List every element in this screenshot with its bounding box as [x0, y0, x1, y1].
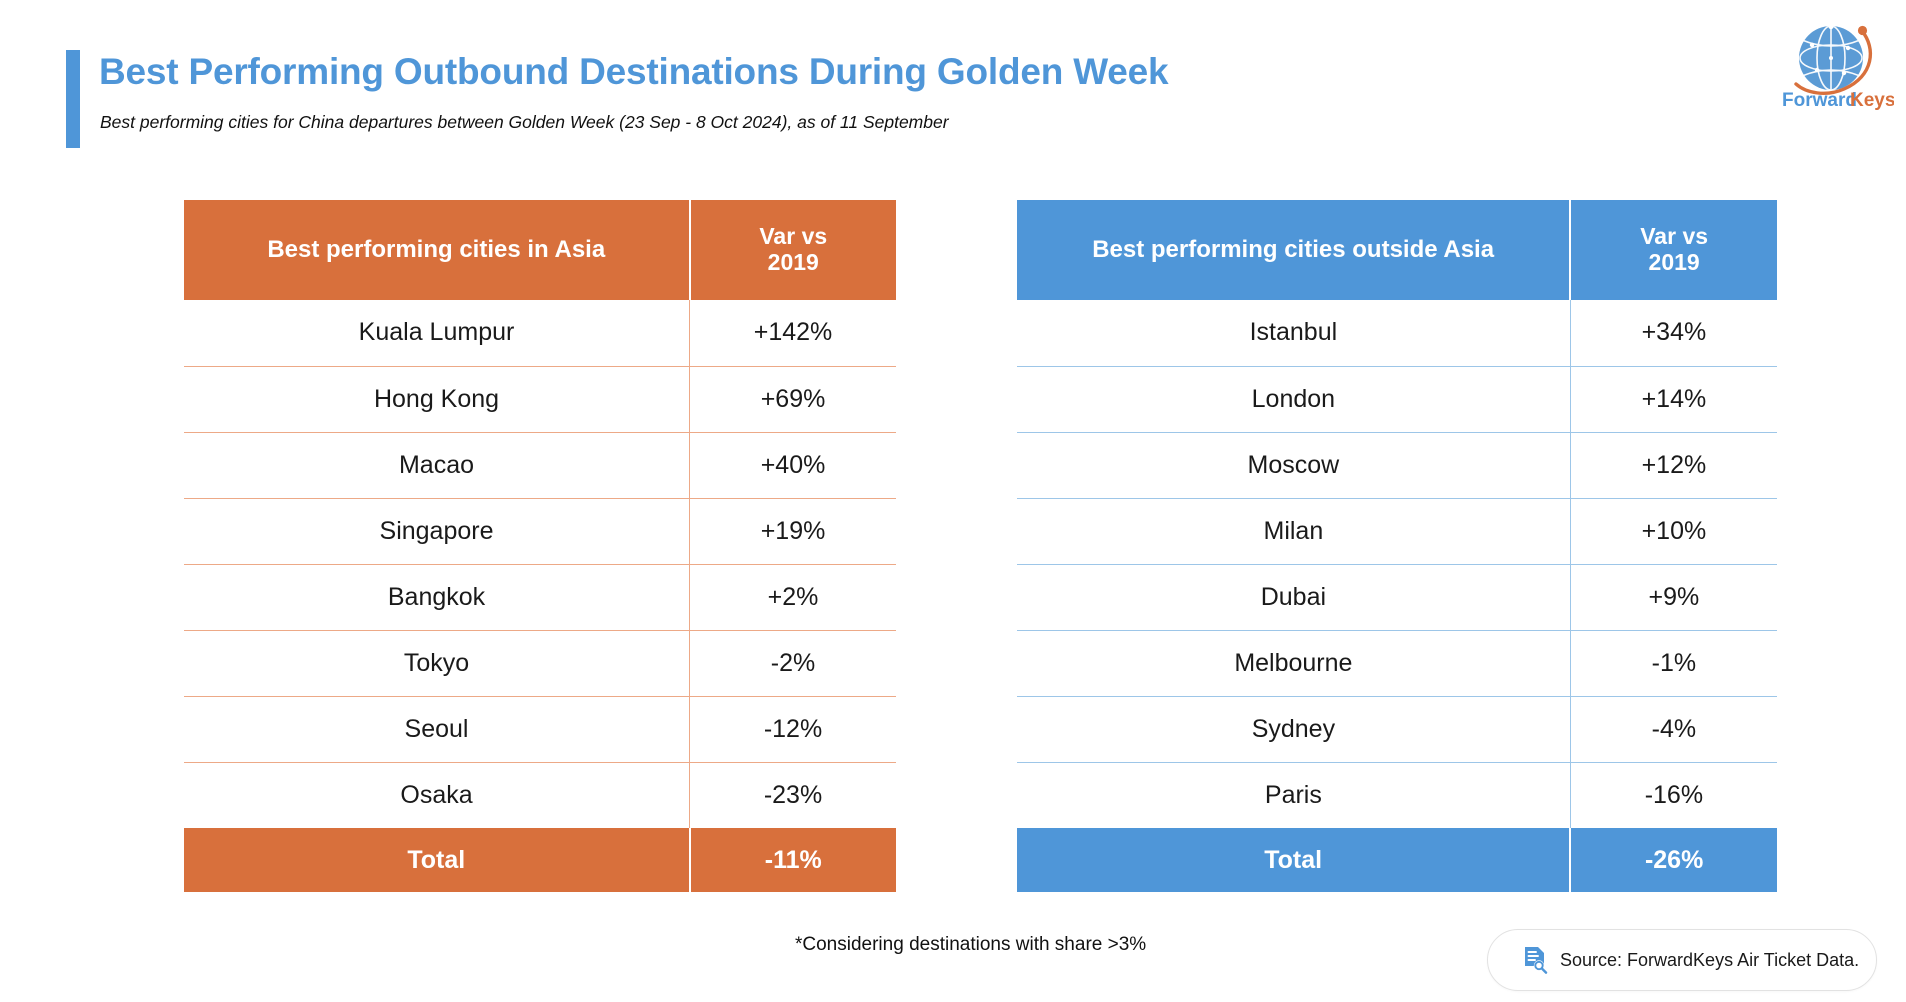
table-total-row: Total -11% [184, 828, 896, 892]
table-total-row: Total -26% [1017, 828, 1777, 892]
cell-city: Bangkok [184, 564, 690, 630]
globe-icon [1799, 24, 1863, 90]
cell-var: -2% [690, 630, 896, 696]
cell-city: Seoul [184, 696, 690, 762]
table: Best performing cities in Asia Var vs 20… [184, 200, 896, 892]
accent-bar [66, 50, 80, 148]
column-header-var-line2: 2019 [1581, 250, 1767, 276]
total-var: -11% [690, 828, 896, 892]
cell-var: +69% [690, 366, 896, 432]
table: Best performing cities outside Asia Var … [1017, 200, 1777, 892]
table-row: Dubai +9% [1017, 564, 1777, 630]
table-row: Istanbul +34% [1017, 300, 1777, 366]
table-header: Best performing cities outside Asia Var … [1017, 200, 1777, 300]
cell-var: -4% [1570, 696, 1777, 762]
cell-city: Osaka [184, 762, 690, 828]
table-row: Tokyo -2% [184, 630, 896, 696]
table-row: London +14% [1017, 366, 1777, 432]
cell-var: +2% [690, 564, 896, 630]
table-row: Hong Kong +69% [184, 366, 896, 432]
cell-var: -23% [690, 762, 896, 828]
total-var: -26% [1570, 828, 1777, 892]
column-header-city: Best performing cities in Asia [184, 200, 690, 300]
cell-var: -1% [1570, 630, 1777, 696]
table-header: Best performing cities in Asia Var vs 20… [184, 200, 896, 300]
table-best-cities-asia: Best performing cities in Asia Var vs 20… [184, 200, 896, 892]
logo-word-forward: Forward [1782, 90, 1857, 110]
cell-city: Istanbul [1017, 300, 1570, 366]
cell-city: Tokyo [184, 630, 690, 696]
total-label: Total [1017, 828, 1570, 892]
cell-city: Milan [1017, 498, 1570, 564]
slide-canvas: Best Performing Outbound Destinations Du… [0, 0, 1906, 1002]
table-row: Kuala Lumpur +142% [184, 300, 896, 366]
cell-var: +10% [1570, 498, 1777, 564]
column-header-var-line1: Var vs [701, 224, 886, 250]
column-header-var: Var vs 2019 [1570, 200, 1777, 300]
cell-var: +34% [1570, 300, 1777, 366]
cell-city: Moscow [1017, 432, 1570, 498]
cell-var: -16% [1570, 762, 1777, 828]
cell-city: Sydney [1017, 696, 1570, 762]
column-header-var-line1: Var vs [1581, 224, 1767, 250]
table-best-cities-outside-asia: Best performing cities outside Asia Var … [1017, 200, 1777, 892]
cell-var: -12% [690, 696, 896, 762]
total-label: Total [184, 828, 690, 892]
footnote: *Considering destinations with share >3% [795, 934, 1146, 956]
table-row: Milan +10% [1017, 498, 1777, 564]
table-row: Osaka -23% [184, 762, 896, 828]
forwardkeys-logo: Forward Keys [1782, 18, 1894, 110]
table-row: Seoul -12% [184, 696, 896, 762]
table-header-row: Best performing cities in Asia Var vs 20… [184, 200, 896, 300]
column-header-var: Var vs 2019 [690, 200, 896, 300]
table-header-row: Best performing cities outside Asia Var … [1017, 200, 1777, 300]
logo-wordmark: Forward Keys [1782, 90, 1894, 110]
table-row: Sydney -4% [1017, 696, 1777, 762]
document-search-icon [1523, 946, 1549, 974]
table-footer: Total -11% [184, 828, 896, 892]
cell-city: Dubai [1017, 564, 1570, 630]
cell-city: London [1017, 366, 1570, 432]
page-subtitle: Best performing cities for China departu… [100, 112, 949, 133]
cell-city: Macao [184, 432, 690, 498]
cell-city: Paris [1017, 762, 1570, 828]
cell-var: +12% [1570, 432, 1777, 498]
table-row: Melbourne -1% [1017, 630, 1777, 696]
table-row: Macao +40% [184, 432, 896, 498]
column-header-city: Best performing cities outside Asia [1017, 200, 1570, 300]
forwardkeys-logo-graphic: Forward Keys [1782, 18, 1894, 110]
table-footer: Total -26% [1017, 828, 1777, 892]
cell-var: +142% [690, 300, 896, 366]
logo-word-keys: Keys [1850, 90, 1894, 110]
cell-city: Hong Kong [184, 366, 690, 432]
table-row: Bangkok +2% [184, 564, 896, 630]
table-row: Paris -16% [1017, 762, 1777, 828]
source-badge: Source: ForwardKeys Air Ticket Data. [1487, 929, 1877, 991]
column-header-var-line2: 2019 [701, 250, 886, 276]
cell-city: Singapore [184, 498, 690, 564]
cell-var: +19% [690, 498, 896, 564]
page-title: Best Performing Outbound Destinations Du… [99, 51, 1168, 93]
cell-var: +40% [690, 432, 896, 498]
table-body: Istanbul +34% London +14% Moscow +12% Mi… [1017, 300, 1777, 828]
table-row: Singapore +19% [184, 498, 896, 564]
cell-city: Melbourne [1017, 630, 1570, 696]
table-row: Moscow +12% [1017, 432, 1777, 498]
cell-var: +9% [1570, 564, 1777, 630]
table-body: Kuala Lumpur +142% Hong Kong +69% Macao … [184, 300, 896, 828]
cell-var: +14% [1570, 366, 1777, 432]
cell-city: Kuala Lumpur [184, 300, 690, 366]
source-text: Source: ForwardKeys Air Ticket Data. [1560, 950, 1859, 971]
